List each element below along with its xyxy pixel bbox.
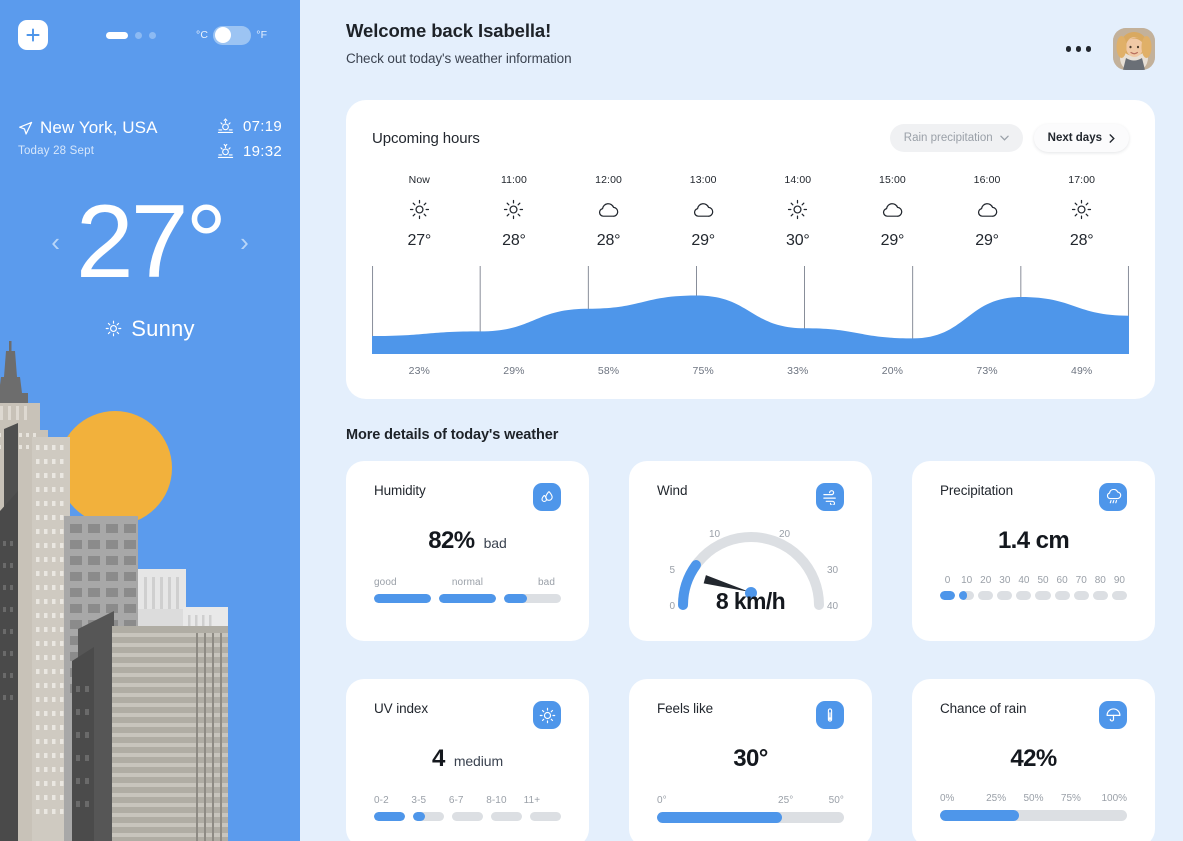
gauge-tick-30: 30	[827, 565, 839, 576]
chart-tick-label: 23%	[372, 365, 467, 377]
precipitation-pips	[940, 591, 1127, 600]
pip	[978, 591, 993, 600]
hour-temp: 29°	[975, 232, 999, 250]
chance-of-rain-scale-labels: 0% 25% 50% 75% 100%	[940, 793, 1127, 804]
feels-like-bar	[657, 812, 844, 823]
current-temperature: 27°	[76, 190, 224, 294]
humidity-card[interactable]: Humidity 82% bad good normal bad	[346, 461, 589, 641]
wind-icon	[816, 483, 844, 511]
card-title: Feels like	[657, 701, 713, 716]
unit-fahrenheit-label: °F	[256, 29, 267, 41]
segment-bar	[504, 594, 561, 603]
hour-time: 16:00	[974, 174, 1001, 186]
humidity-value-row: 82% bad	[374, 527, 561, 555]
chevron-right-icon	[1109, 134, 1115, 143]
pip	[959, 591, 974, 600]
scale-label: 50°	[829, 795, 844, 806]
cloud-icon	[692, 198, 715, 220]
scale-label: 80	[1093, 575, 1108, 586]
scale-label: 0%	[940, 793, 977, 804]
hour-cell[interactable]: 13:00 29°	[656, 174, 751, 250]
uv-qualifier: medium	[454, 753, 503, 769]
page-dot-2[interactable]	[135, 32, 142, 39]
hour-time: 12:00	[595, 174, 622, 186]
segment-bar	[530, 812, 561, 821]
rain-precipitation-dropdown[interactable]: Rain precipitation	[890, 124, 1023, 152]
chart-tick-label: 33%	[751, 365, 846, 377]
card-title: Precipitation	[940, 483, 1013, 498]
card-title: Wind	[657, 483, 687, 498]
sun-icon	[533, 701, 561, 729]
page-dot-active[interactable]	[106, 32, 128, 39]
scale-label: 60	[1055, 575, 1070, 586]
hour-temp: 29°	[881, 232, 905, 250]
hour-cell[interactable]: 14:00 30°	[751, 174, 846, 250]
card-title: UV index	[374, 701, 428, 716]
feels-like-card[interactable]: Feels like 30° 0° 25° 50°	[629, 679, 872, 841]
segment-bar	[413, 812, 444, 821]
gauge-tick-20: 20	[779, 529, 791, 540]
segment-label: 8-10	[486, 795, 523, 806]
pip	[1112, 591, 1127, 600]
sun-graphic	[58, 411, 172, 525]
precipitation-card[interactable]: Precipitation 1.4 cm 0 10 20 30 40 50 60…	[912, 461, 1155, 641]
uv-value: 4	[432, 745, 445, 772]
scale-label: 25°	[743, 795, 829, 806]
next-days-button[interactable]: Next days	[1034, 124, 1129, 152]
upcoming-hours-card: Upcoming hours Rain precipitation Next d…	[346, 100, 1155, 399]
location-name: New York, USA	[40, 118, 158, 138]
segment-bar	[491, 812, 522, 821]
unit-switch[interactable]	[213, 26, 251, 45]
pip	[1093, 591, 1108, 600]
cloud-icon	[597, 198, 620, 220]
sun-icon	[787, 198, 808, 220]
scale-label: 30	[997, 575, 1012, 586]
chance-of-rain-bar	[940, 810, 1127, 821]
sun-icon	[503, 198, 524, 220]
chart-tick-label: 58%	[561, 365, 656, 377]
scale-label: 25%	[977, 793, 1014, 804]
condition-label: Sunny	[131, 316, 194, 341]
chart-tick-label: 29%	[467, 365, 562, 377]
chart-area-series	[372, 296, 1129, 355]
segment-bar	[439, 594, 496, 603]
pip	[940, 591, 955, 600]
hour-time: 15:00	[879, 174, 906, 186]
scale-label: 10	[959, 575, 974, 586]
wind-gauge: 0 5 10 20 30 40 8 km/h	[657, 513, 844, 617]
segment-bar	[374, 812, 405, 821]
hour-cell[interactable]: 11:00 28°	[467, 174, 562, 250]
scale-label: 50	[1035, 575, 1050, 586]
segment-bar	[452, 812, 483, 821]
hour-time: Now	[409, 174, 430, 186]
scale-label: 90	[1112, 575, 1127, 586]
hour-time: 13:00	[690, 174, 717, 186]
page-subtitle: Check out today's weather information	[346, 51, 572, 66]
pip	[997, 591, 1012, 600]
hour-cell[interactable]: 17:00 28°	[1034, 174, 1129, 250]
pip	[1035, 591, 1050, 600]
sun-times: 07:19 19:32	[217, 118, 282, 160]
sunset-time: 19:32	[243, 143, 282, 160]
details-section-title: More details of today's weather	[346, 427, 1155, 443]
segment-label: 6-7	[449, 795, 486, 806]
location-date: Today 28 Sept	[18, 145, 158, 157]
uv-segment-bars	[374, 812, 561, 821]
cloud-icon	[976, 198, 999, 220]
pip	[1055, 591, 1070, 600]
chance-of-rain-value: 42%	[940, 745, 1127, 773]
segment-label: 0-2	[374, 795, 411, 806]
ellipsis-icon[interactable]	[1066, 46, 1092, 52]
umbrella-icon	[1099, 701, 1127, 729]
scale-label: 20	[978, 575, 993, 586]
wind-card[interactable]: Wind	[629, 461, 872, 641]
scale-label: 100%	[1090, 793, 1127, 804]
previous-location-button[interactable]: ‹	[51, 229, 60, 255]
pip	[1016, 591, 1031, 600]
sun-icon	[105, 317, 122, 343]
city-skyline-illustration	[0, 341, 300, 841]
segment-label: good	[374, 577, 436, 588]
feels-like-scale-labels: 0° 25° 50°	[657, 795, 844, 806]
hour-cell[interactable]: Now 27°	[372, 174, 467, 250]
sun-icon	[1071, 198, 1092, 220]
scale-label: 50%	[1015, 793, 1052, 804]
humidity-segment-bars	[374, 594, 561, 603]
details-cards-grid: Humidity 82% bad good normal bad	[346, 461, 1155, 841]
page-title: Welcome back Isabella!	[346, 20, 572, 42]
sidebar-toolbar: °C °F	[0, 0, 300, 50]
unit-toggle[interactable]: °C °F	[196, 26, 267, 45]
avatar-photo	[1113, 28, 1155, 70]
humidity-segment-labels: good normal bad	[374, 577, 561, 588]
thermometer-icon	[816, 701, 844, 729]
unit-switch-knob	[215, 27, 231, 43]
scale-label: 0°	[657, 795, 743, 806]
page-indicator-dots[interactable]	[106, 32, 156, 39]
wind-value: 8 km/h	[657, 588, 844, 615]
next-location-button[interactable]: ›	[240, 229, 249, 255]
uv-segment-labels: 0-2 3-5 6-7 8-10 11+	[374, 795, 561, 806]
uv-index-card[interactable]: UV index 4 medium 0-2 3-5 6-7 8-10 11+	[346, 679, 589, 841]
hour-cell[interactable]: 12:00 28°	[561, 174, 656, 250]
precipitation-area-chart	[372, 266, 1129, 358]
sidebar: °C °F New York, USA Today 2	[0, 0, 300, 841]
scale-label: 0	[940, 575, 955, 586]
location-block: New York, USA Today 28 Sept 07:19	[0, 118, 300, 160]
sunset-icon	[217, 143, 234, 160]
scale-label: 75%	[1052, 793, 1089, 804]
scale-label: 70	[1074, 575, 1089, 586]
hourly-forecast-row: Now 27° 11:00 28° 12:00	[372, 174, 1129, 250]
card-title: Chance of rain	[940, 701, 1026, 716]
plus-icon	[26, 28, 40, 42]
hour-time: 11:00	[501, 174, 527, 186]
next-days-label: Next days	[1048, 132, 1102, 144]
current-condition: Sunny	[0, 316, 300, 343]
hour-temp: 30°	[786, 232, 810, 250]
card-title: Humidity	[374, 483, 426, 498]
segment-label: 11+	[524, 795, 561, 806]
main-header: Welcome back Isabella! Check out today's…	[346, 20, 1155, 70]
avatar[interactable]	[1113, 28, 1155, 70]
current-temperature-block: ‹ 27° ›	[0, 190, 300, 294]
main-content: Welcome back Isabella! Check out today's…	[300, 0, 1183, 841]
card-title: Upcoming hours	[372, 130, 480, 147]
hour-time: 17:00	[1068, 174, 1095, 186]
unit-celsius-label: °C	[196, 29, 208, 41]
chart-tick-label: 73%	[940, 365, 1035, 377]
hour-time: 14:00	[784, 174, 811, 186]
navigation-pin-icon	[18, 121, 33, 136]
scale-label: 40	[1016, 575, 1031, 586]
chart-tick-label: 20%	[845, 365, 940, 377]
humidity-value: 82%	[428, 527, 474, 554]
chart-tick-label: 49%	[1034, 365, 1129, 377]
precipitation-value: 1.4 cm	[940, 527, 1127, 555]
hour-cell[interactable]: 16:00 29°	[940, 174, 1035, 250]
chart-tick-label: 75%	[656, 365, 751, 377]
segment-bar	[374, 594, 431, 603]
sunrise-icon	[217, 118, 234, 135]
humidity-qualifier: bad	[484, 535, 507, 551]
pip	[1074, 591, 1089, 600]
hour-temp: 28°	[1070, 232, 1094, 250]
sun-icon	[409, 198, 430, 220]
hour-temp: 29°	[691, 232, 715, 250]
dropdown-label: Rain precipitation	[904, 132, 993, 144]
hour-cell[interactable]: 15:00 29°	[845, 174, 940, 250]
segment-label: bad	[499, 577, 561, 588]
hour-temp: 28°	[502, 232, 526, 250]
gauge-tick-5: 5	[669, 565, 675, 576]
sunrise-time: 07:19	[243, 118, 282, 135]
gauge-tick-10: 10	[709, 529, 721, 540]
chance-of-rain-card[interactable]: Chance of rain 42% 0% 25% 50% 75% 100%	[912, 679, 1155, 841]
chart-svg	[372, 266, 1129, 358]
chevron-down-icon	[1000, 135, 1009, 141]
segment-label: normal	[436, 577, 498, 588]
cloud-icon	[881, 198, 904, 220]
precipitation-scale-labels: 0 10 20 30 40 50 60 70 80 90	[940, 575, 1127, 586]
humidity-drop-icon	[533, 483, 561, 511]
chart-tick-labels: 23% 29% 58% 75% 33% 20% 73% 49%	[372, 365, 1129, 377]
feels-like-value: 30°	[657, 745, 844, 773]
add-location-button[interactable]	[18, 20, 48, 50]
weather-dashboard: °C °F New York, USA Today 2	[0, 0, 1183, 841]
segment-label: 3-5	[411, 795, 448, 806]
rain-cloud-icon	[1099, 483, 1127, 511]
hour-temp: 28°	[597, 232, 621, 250]
uv-value-row: 4 medium	[374, 745, 561, 773]
page-dot-3[interactable]	[149, 32, 156, 39]
hour-temp: 27°	[408, 232, 432, 250]
